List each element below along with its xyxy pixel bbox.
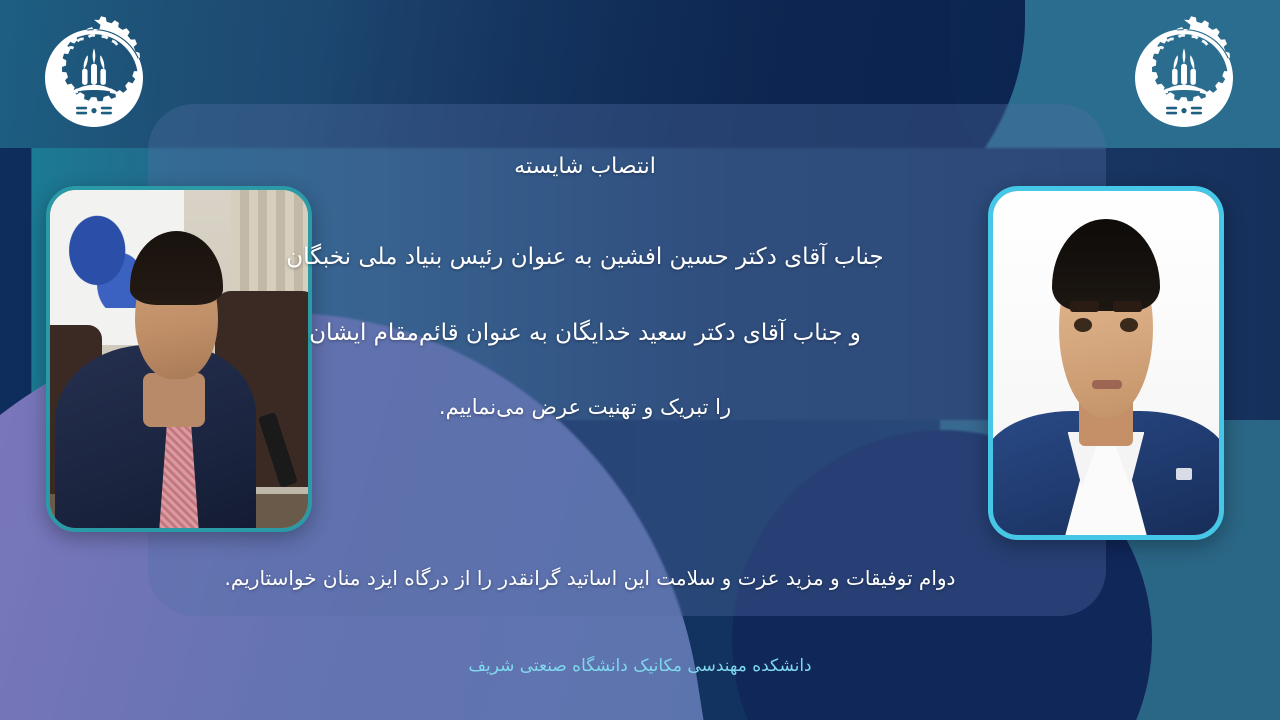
photo-lapel-pin	[1176, 468, 1192, 480]
photo-eye-right	[1120, 318, 1138, 332]
announcement-body-line-3: را تبریک و تهنیت عرض می‌نماییم.	[200, 391, 970, 424]
photo-neck	[143, 373, 205, 427]
photo-eyebrow-left	[1070, 301, 1099, 312]
announcement-text: انتصاب شایسته جناب آقای دکتر حسین افشین …	[200, 150, 970, 424]
portrait-photo-right	[988, 186, 1224, 540]
announcement-body-line-1: جناب آقای دکتر حسین افشین به عنوان رئیس …	[200, 240, 970, 276]
sharif-university-logo-right	[1122, 16, 1246, 140]
sharif-university-logo-left	[32, 16, 156, 140]
announcement-headline: انتصاب شایسته	[200, 150, 970, 184]
announcement-body-line-2: و جناب آقای دکتر سعید خدایگان به عنوان ق…	[200, 316, 970, 352]
announcement-closing-line: دوام توفیقات و مزید عزت و سلامت این اسات…	[120, 566, 1060, 590]
portrait-right-image	[993, 191, 1219, 535]
photo-eyebrow-right	[1113, 301, 1142, 312]
footer-department-label: دانشکده مهندسی مکانیک دانشگاه صنعتی شریف	[0, 656, 1280, 676]
photo-mouth	[1092, 380, 1121, 389]
announcement-slide: انتصاب شایسته جناب آقای دکتر حسین افشین …	[0, 0, 1280, 720]
